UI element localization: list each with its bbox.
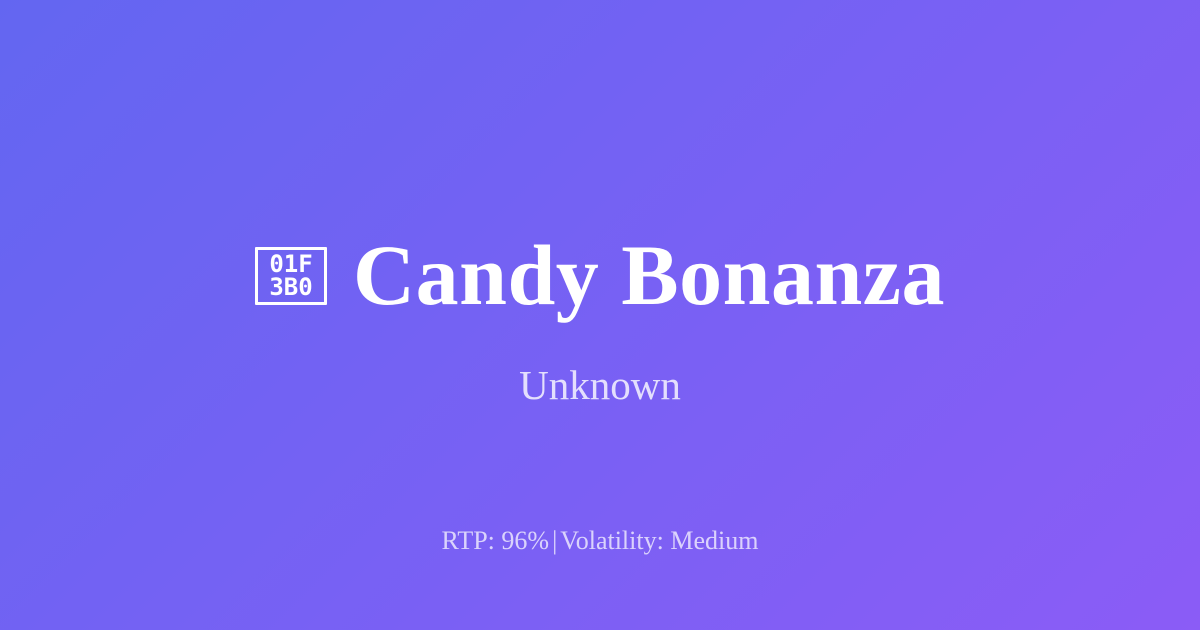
- game-title: Candy Bonanza: [353, 232, 945, 318]
- rtp-value: 96%: [501, 526, 549, 555]
- game-stats: RTP: 96%|Volatility: Medium: [0, 528, 1200, 554]
- stats-separator: |: [549, 526, 560, 555]
- game-provider-subtitle: Unknown: [0, 365, 1200, 406]
- title-row: 01F 3B0 Candy Bonanza: [0, 232, 1200, 318]
- game-preview-card: 01F 3B0 Candy Bonanza Unknown RTP: 96%|V…: [0, 0, 1200, 630]
- slot-machine-icon-codepoint-bottom: 3B0: [269, 276, 312, 299]
- volatility-value: Medium: [670, 526, 758, 555]
- rtp-label: RTP:: [442, 526, 495, 555]
- volatility-label: Volatility:: [560, 526, 664, 555]
- slot-machine-icon: 01F 3B0: [255, 247, 327, 305]
